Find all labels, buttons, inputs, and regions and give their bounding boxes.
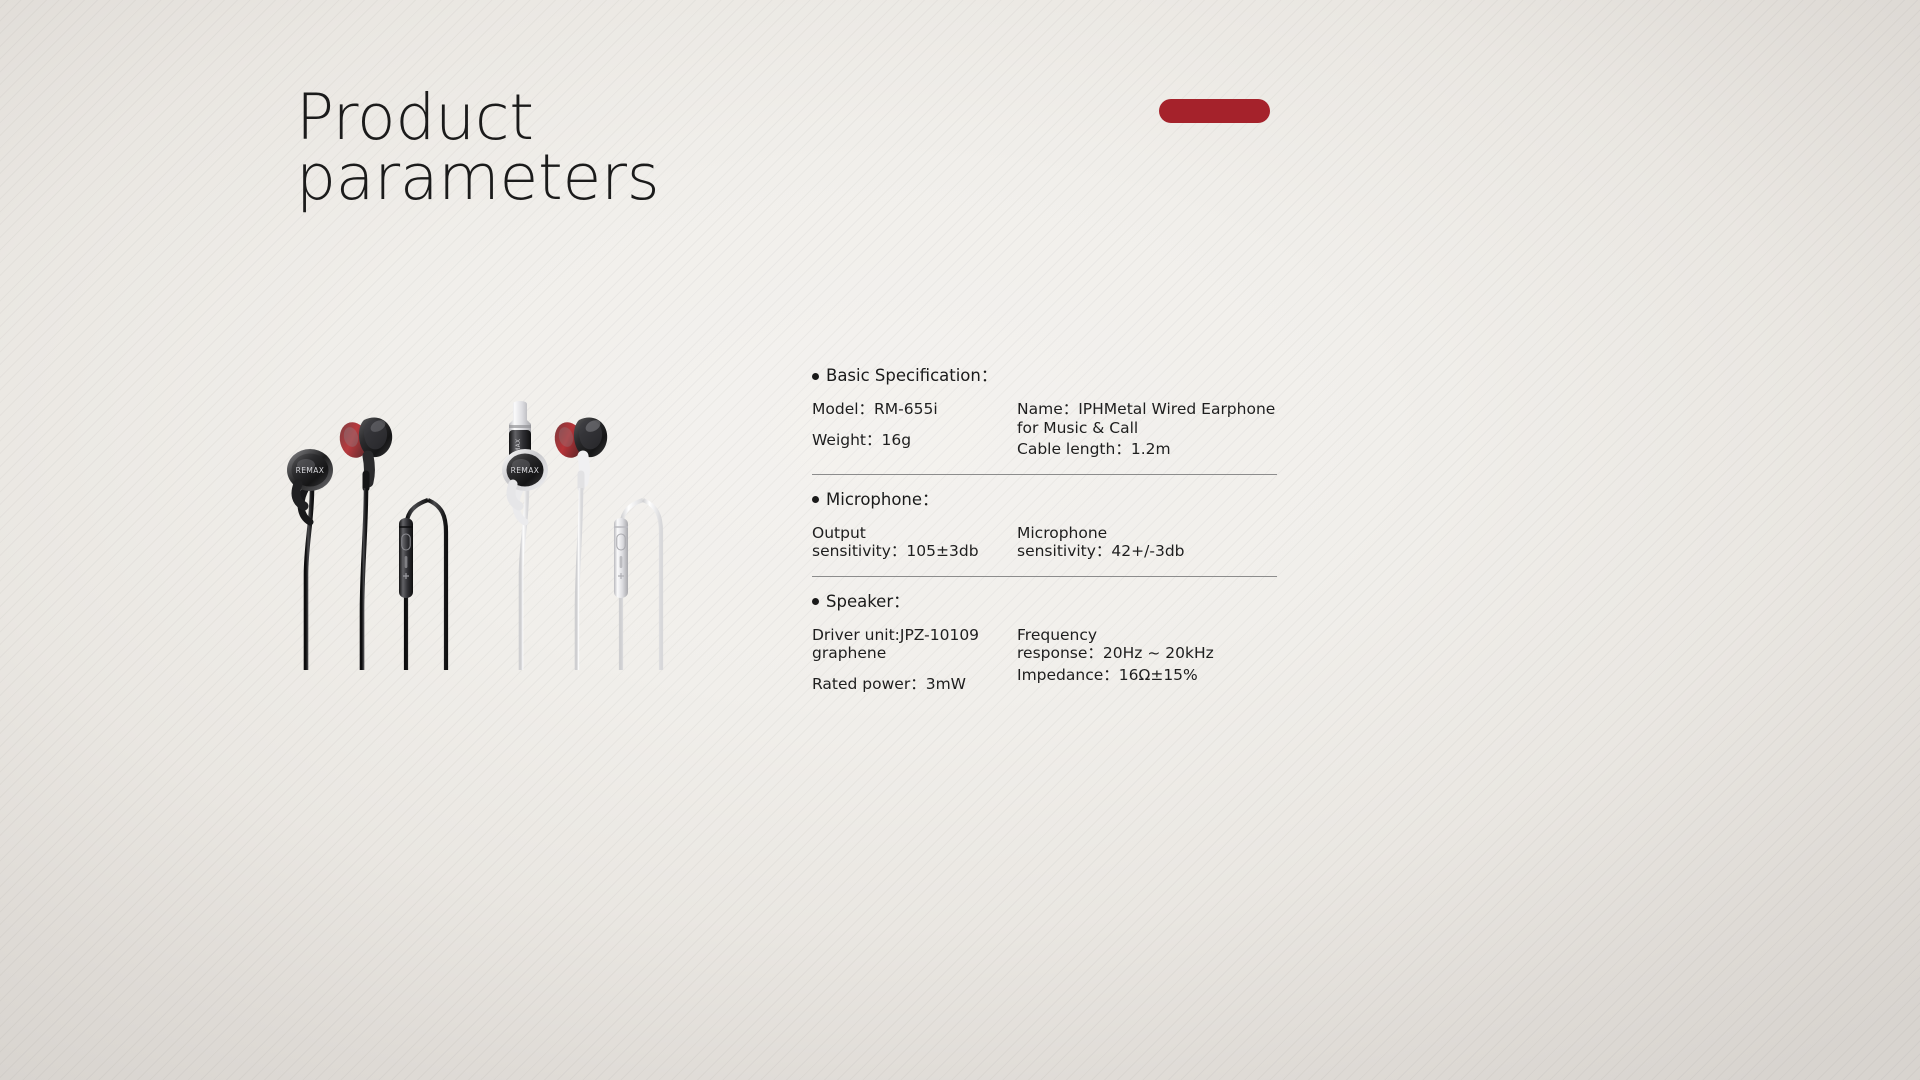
spec-microphone-sensitivity: Microphone sensitivity：42+/-3db <box>1017 524 1277 561</box>
inline-remote-black <box>399 518 413 598</box>
spec-column-left: Driver unit:JPZ-10109 graphene Rated pow… <box>812 626 1017 694</box>
spec-section-heading-basic: Basic Specification： <box>812 366 1277 386</box>
spec-driver-unit: Driver unit:JPZ-10109 graphene <box>812 626 1017 663</box>
spec-weight: Weight：16g <box>812 431 1017 450</box>
spec-output-sensitivity: Output sensitivity：105±3db <box>812 524 1017 561</box>
product-image: REMAX <box>270 370 720 670</box>
spec-section-heading-microphone: Microphone： <box>812 490 1277 510</box>
accent-bar <box>1159 99 1270 123</box>
spec-frequency-response: Frequency response：20Hz ~ 20kHz <box>1017 626 1277 663</box>
spec-cable-length: Cable length：1.2m <box>1017 440 1277 459</box>
earphone-white-variant: REMAX REMAX <box>502 401 720 670</box>
svg-text:REMAX: REMAX <box>511 466 540 475</box>
spec-model: Model：RM-655i <box>812 400 1017 419</box>
bullet-icon <box>812 373 819 380</box>
page-title: Product parameters <box>296 88 659 208</box>
spec-rated-power: Rated power：3mW <box>812 675 1017 694</box>
spec-impedance: Impedance：16Ω±15% <box>1017 666 1277 685</box>
spec-column-right: Microphone sensitivity：42+/-3db <box>1017 524 1277 561</box>
bullet-icon <box>812 496 819 503</box>
bullet-icon <box>812 598 819 605</box>
spec-heading-label: Microphone： <box>826 490 939 510</box>
spec-column-left: Model：RM-655i Weight：16g <box>812 400 1017 459</box>
spec-name: Name：IPHMetal Wired Earphone for Music &… <box>1017 400 1277 437</box>
svg-text:REMAX: REMAX <box>296 466 325 475</box>
spec-rows-speaker: Driver unit:JPZ-10109 graphene Rated pow… <box>812 626 1277 694</box>
spec-rows-basic: Model：RM-655i Weight：16g Name：IPHMetal W… <box>812 400 1277 459</box>
earphone-black-variant: REMAX <box>287 401 531 670</box>
inline-remote-white <box>614 518 628 598</box>
spec-column-right: Frequency response：20Hz ~ 20kHz Impedanc… <box>1017 626 1277 694</box>
section-divider <box>812 474 1277 475</box>
spec-heading-label: Basic Specification： <box>826 366 997 386</box>
spec-column-right: Name：IPHMetal Wired Earphone for Music &… <box>1017 400 1277 459</box>
section-divider <box>812 576 1277 577</box>
spec-column-left: Output sensitivity：105±3db <box>812 524 1017 561</box>
specification-panel: Basic Specification： Model：RM-655i Weigh… <box>812 366 1277 693</box>
spec-section-heading-speaker: Speaker： <box>812 592 1277 612</box>
spec-heading-label: Speaker： <box>826 592 910 612</box>
spec-rows-microphone: Output sensitivity：105±3db Microphone se… <box>812 524 1277 561</box>
